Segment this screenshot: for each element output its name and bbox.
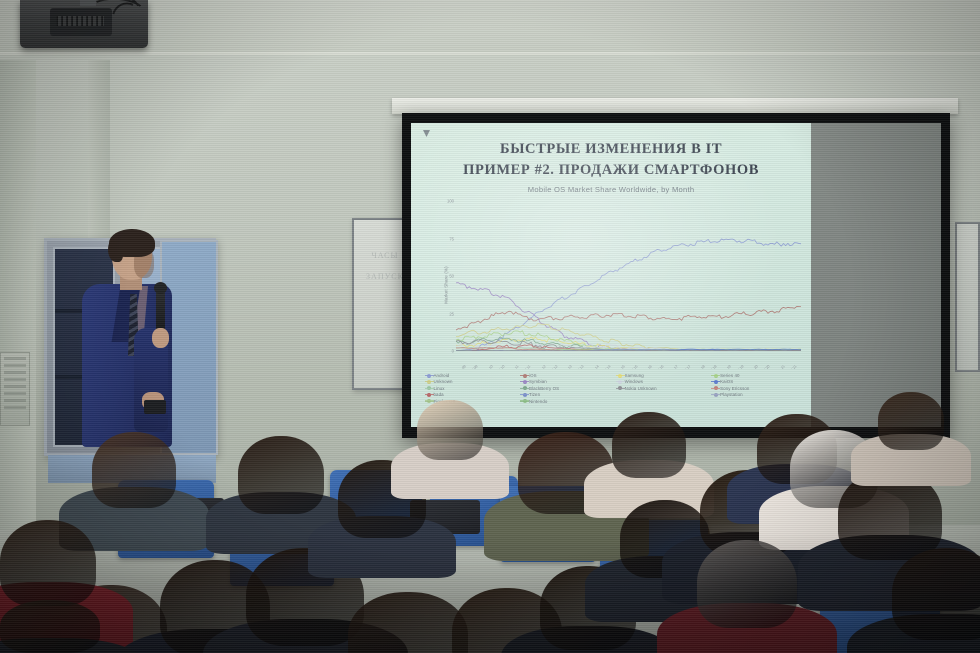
legend-color-dot-icon: [523, 380, 527, 384]
y-tick: 50: [449, 274, 454, 279]
legend-item[interactable]: Tizen: [523, 392, 615, 397]
presenter-hand: [152, 328, 169, 348]
presenter: [72, 232, 190, 447]
legend-label: Samsung: [625, 373, 644, 378]
audience-head: [92, 432, 176, 508]
legend-color-dot-icon: [714, 374, 718, 378]
legend-item[interactable]: Symbian: [523, 379, 615, 384]
legend-color-dot-icon: [427, 380, 431, 384]
legend-label: Android: [434, 373, 450, 378]
microphone-head-icon: [154, 282, 167, 294]
legend-item[interactable]: Samsung: [618, 373, 710, 378]
foreground-shadow: [0, 533, 980, 653]
legend-color-dot-icon: [523, 399, 527, 403]
legend-color-dot-icon: [427, 374, 431, 378]
legend-color-dot-icon: [618, 380, 622, 384]
legend-label: Sony Ericsson: [720, 386, 749, 391]
legend-label: Windows: [625, 379, 644, 384]
legend-item[interactable]: Nokia Unknown: [618, 386, 710, 391]
wall-vent: [0, 352, 30, 426]
x-tick: Jul 16: [655, 364, 664, 369]
presenter-clicker-device: [144, 400, 166, 414]
x-tick: Jul 10: [496, 364, 505, 369]
x-tick: Jul 13: [576, 364, 585, 369]
market-share-line-chart: Market Share (%) 1007550250 Jan 09Jul 09…: [431, 201, 803, 369]
legend-color-dot-icon: [427, 399, 431, 403]
x-tick: Jan 14: [589, 364, 599, 369]
legend-item[interactable]: Nintendo: [523, 399, 615, 404]
y-tick: 0: [452, 349, 454, 354]
y-tick: 75: [449, 236, 454, 241]
legend-color-dot-icon: [618, 386, 622, 390]
chart-line-ios: [456, 306, 801, 330]
legend-label: bada: [434, 392, 444, 397]
legend-item[interactable]: Unknown: [427, 379, 519, 384]
x-tick: Jul 21: [788, 364, 797, 369]
x-tick: Jan 18: [696, 364, 706, 369]
legend-color-dot-icon: [523, 386, 527, 390]
presentation-slide: БЫСТРЫЕ ИЗМЕНЕНИЯ В IT ПРИМЕР #2. ПРОДАЖ…: [411, 123, 811, 427]
projection-screen-frame: БЫСТРЫЕ ИЗМЕНЕНИЯ В IT ПРИМЕР #2. ПРОДАЖ…: [402, 113, 950, 438]
legend-color-dot-icon: [714, 386, 718, 390]
x-tick: Jan 21: [775, 364, 785, 369]
legend-color-dot-icon: [523, 393, 527, 397]
legend-color-dot-icon: [618, 374, 622, 378]
x-tick: Jan 10: [483, 364, 493, 369]
x-tick: Jan 11: [510, 364, 520, 369]
legend-color-dot-icon: [714, 393, 718, 397]
audience-head: [612, 412, 686, 478]
slide-title-line1: БЫСТРЫЕ ИЗМЕНЕНИЯ В IT: [411, 139, 811, 160]
audience-head: [417, 400, 483, 460]
ceiling-projector: [20, 0, 148, 48]
slide-subtitle: Mobile OS Market Share Worldwide, by Mon…: [411, 185, 811, 194]
chart-lines: [456, 201, 801, 351]
legend-item[interactable]: Playstation: [714, 392, 806, 397]
legend-item[interactable]: KaiOS: [714, 379, 806, 384]
x-tick: Jul 09: [469, 364, 478, 369]
legend-color-dot-icon: [714, 380, 718, 384]
legend-item[interactable]: BlackBerry OS: [523, 386, 615, 391]
slide-title: БЫСТРЫЕ ИЗМЕНЕНИЯ В IT ПРИМЕР #2. ПРОДАЖ…: [411, 139, 811, 180]
legend-label: Nintendo: [529, 399, 547, 404]
x-tick: Jul 12: [549, 364, 558, 369]
chart-x-axis-ticks: Jan 09Jul 09Jan 10Jul 10Jan 11Jul 11Jan …: [456, 351, 801, 369]
chart-y-axis-ticks: 1007550250: [439, 201, 455, 351]
x-tick: Jul 14: [602, 364, 611, 369]
legend-label: Series 40: [720, 373, 739, 378]
legend-item[interactable]: Sony Ericsson: [714, 386, 806, 391]
x-tick: Jul 17: [682, 364, 691, 369]
x-tick: Jan 19: [722, 364, 732, 369]
chart-line-symbian: [456, 283, 801, 351]
legend-item[interactable]: iOS: [523, 373, 615, 378]
legend-item[interactable]: bada: [427, 392, 519, 397]
legend-item[interactable]: Series 40: [714, 373, 806, 378]
x-tick: Jan 20: [749, 364, 759, 369]
legend-label: KaiOS: [720, 379, 733, 384]
legend-color-dot-icon: [427, 393, 431, 397]
legend-color-dot-icon: [427, 386, 431, 390]
legend-column: iOSSymbianBlackBerry OSTizenNintendo: [523, 373, 615, 421]
legend-label: Symbian: [529, 379, 547, 384]
projection-screen-surface: БЫСТРЫЕ ИЗМЕНЕНИЯ В IT ПРИМЕР #2. ПРОДАЖ…: [411, 123, 941, 427]
x-tick: Jan 17: [669, 364, 679, 369]
legend-item[interactable]: Windows: [618, 379, 710, 384]
x-tick: Jan 15: [616, 364, 626, 369]
legend-label: Unknown: [434, 379, 453, 384]
x-tick: Jul 18: [708, 364, 717, 369]
x-tick: Jul 20: [762, 364, 771, 369]
y-tick: 25: [449, 311, 454, 316]
x-tick: Jul 11: [522, 364, 531, 369]
triangle-marker-icon: [423, 130, 430, 137]
legend-label: Playstation: [720, 392, 743, 397]
chart-plot-area: [456, 201, 801, 351]
legend-color-dot-icon: [523, 374, 527, 378]
legend-item[interactable]: Android: [427, 373, 519, 378]
presenter-hair-side: [108, 238, 123, 262]
x-tick: Jan 12: [536, 364, 546, 369]
lecture-hall-scene: ЧАСЫ ЗАПУСК: [0, 0, 980, 653]
audience-head: [238, 436, 324, 514]
legend-label: Linux: [434, 386, 445, 391]
left-wall-column: [0, 60, 36, 530]
legend-item[interactable]: Linux: [427, 386, 519, 391]
x-tick: Jul 19: [735, 364, 744, 369]
slide-title-line2: ПРИМЕР #2. ПРОДАЖИ СМАРТФОНОВ: [411, 160, 811, 181]
audience-head: [878, 392, 944, 450]
legend-label: Nokia Unknown: [625, 386, 657, 391]
x-tick: Jan 13: [563, 364, 573, 369]
x-tick: Jan 09: [457, 364, 467, 369]
whiteboard-right: [955, 222, 980, 372]
x-tick: Jan 16: [642, 364, 652, 369]
screen-roller-housing: [392, 98, 958, 114]
legend-label: BlackBerry OS: [529, 386, 559, 391]
legend-label: iOS: [529, 373, 537, 378]
x-tick: Jul 15: [629, 364, 638, 369]
chart-legend: AndroidUnknownLinuxbadaFirefox OSiOSSymb…: [427, 373, 805, 421]
legend-label: Tizen: [529, 392, 540, 397]
y-tick: 100: [447, 199, 454, 204]
